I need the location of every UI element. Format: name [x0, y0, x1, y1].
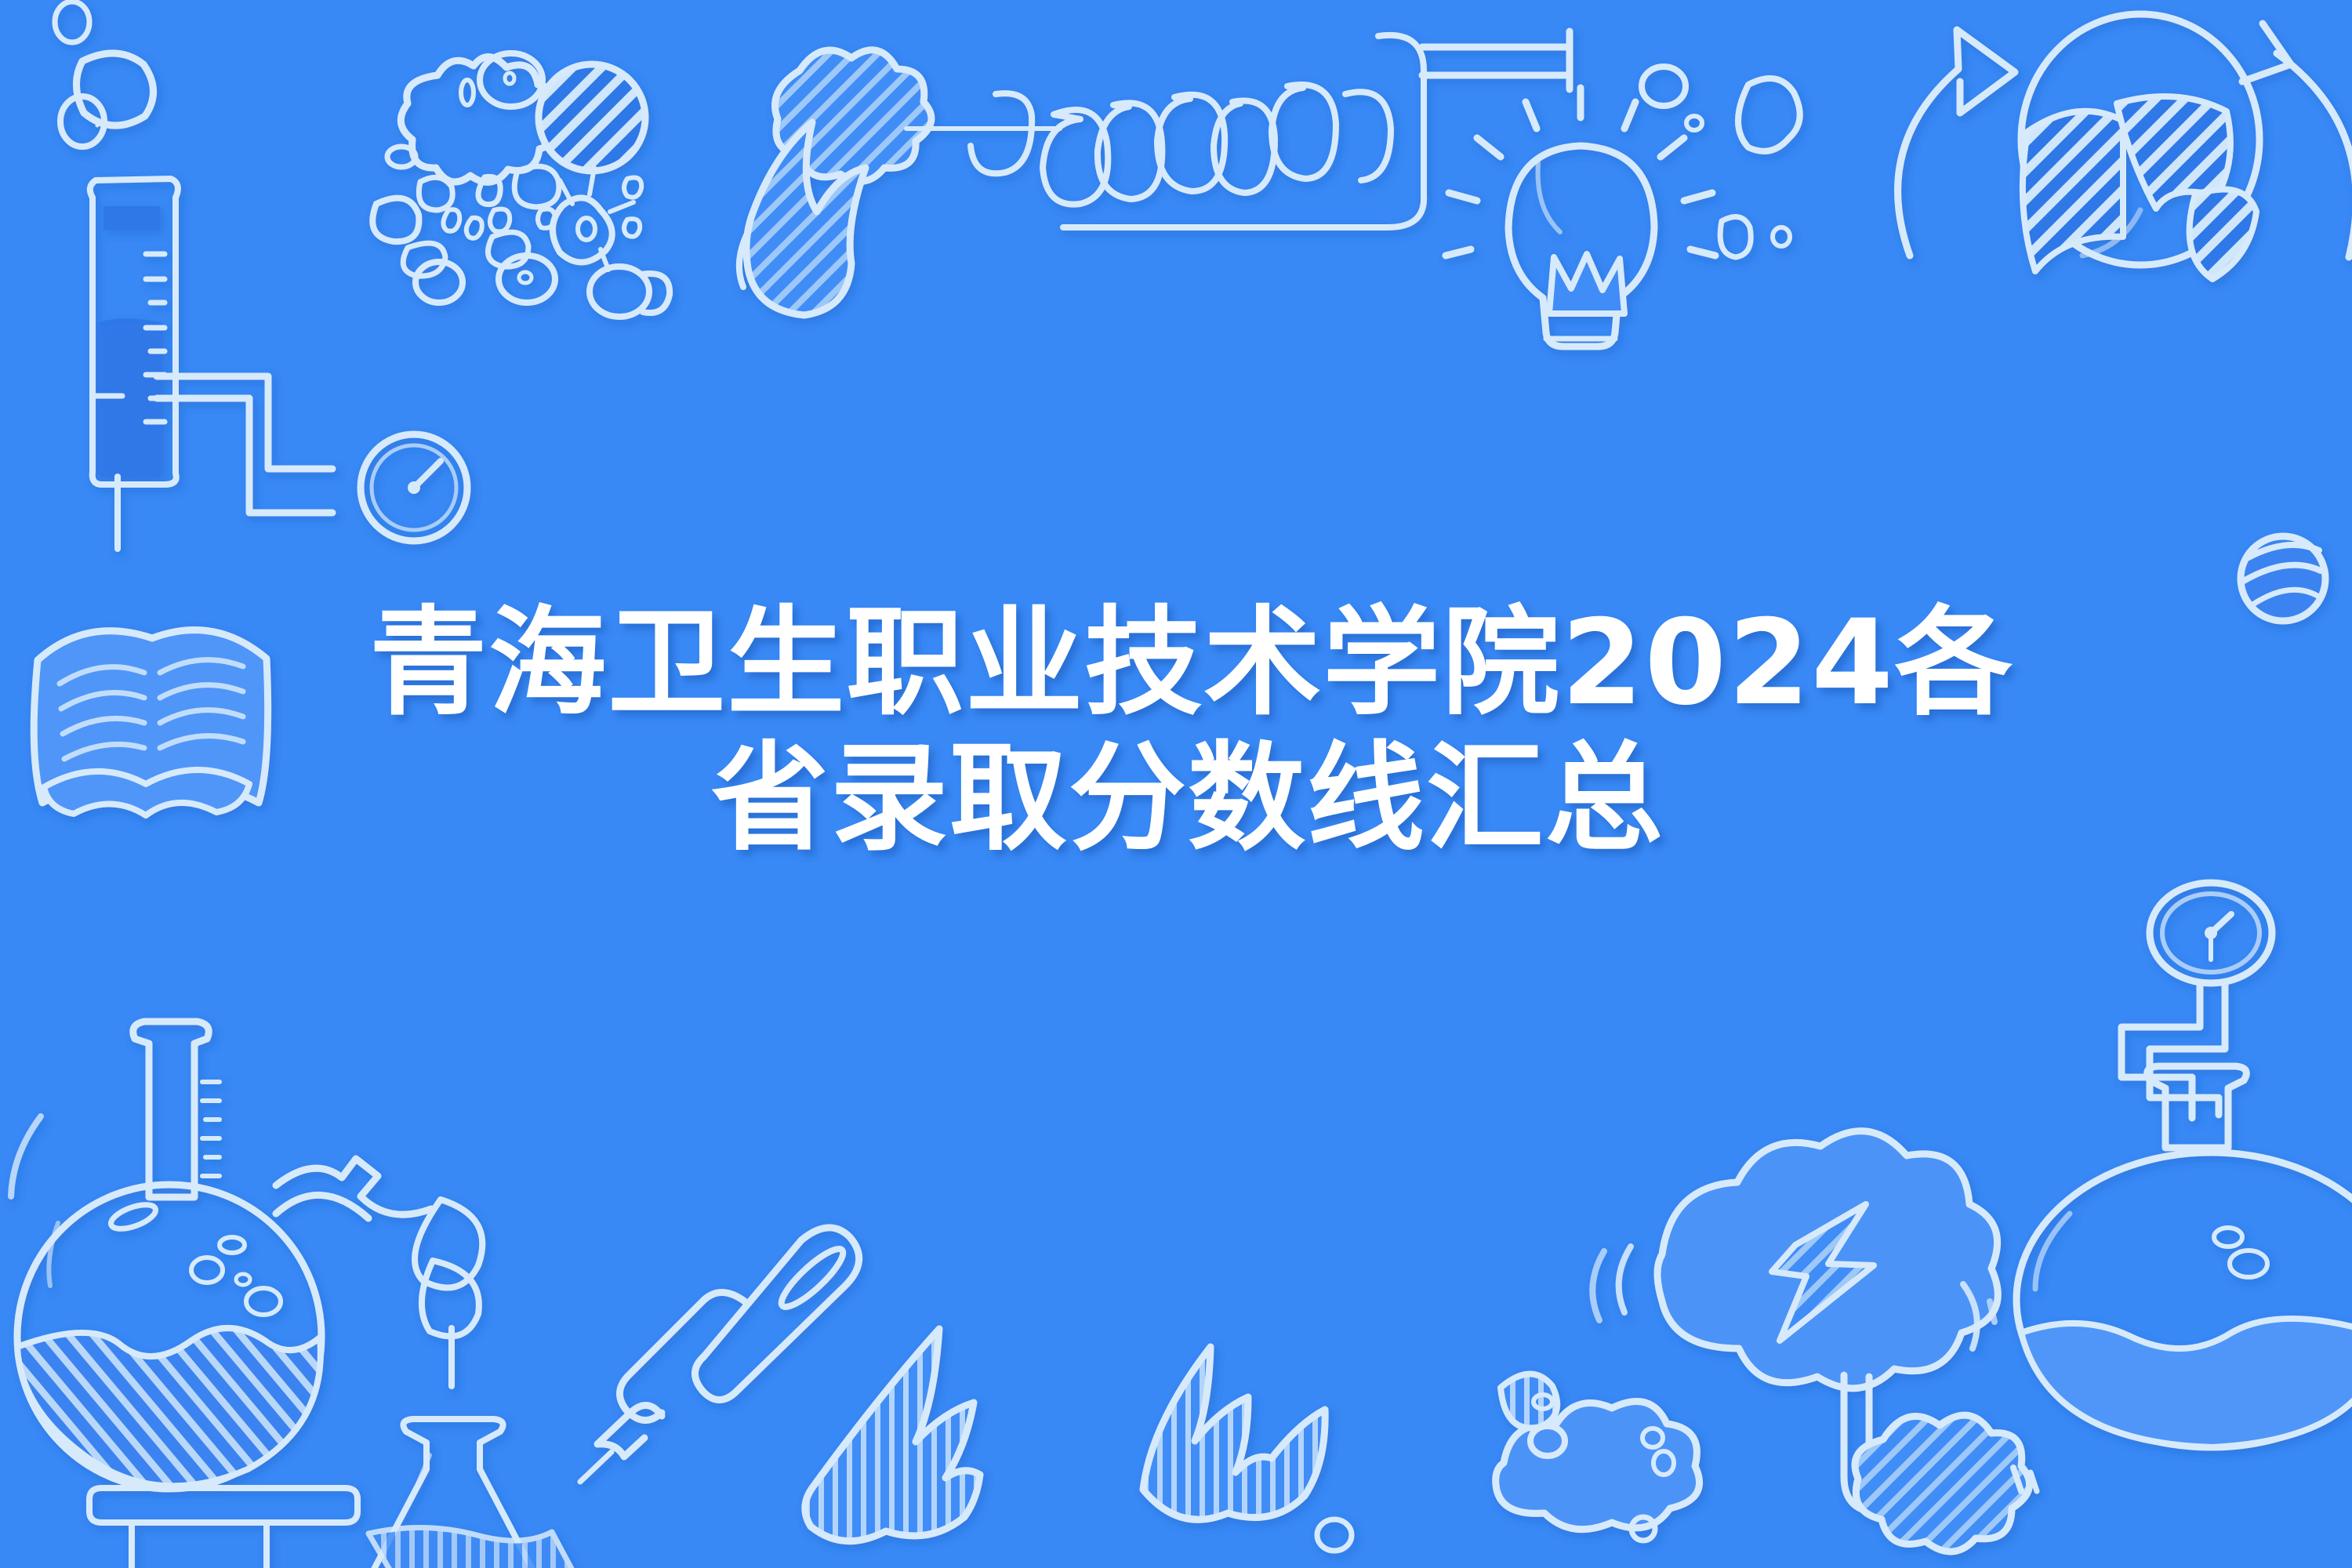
- poster-canvas: 青海卫生职业技术学院2024各 省录取分数线汇总: [0, 0, 2352, 1568]
- rock-specimen: [1501, 1374, 1557, 1428]
- open-book: [34, 630, 267, 815]
- planet-right: [2241, 536, 2325, 621]
- decorative-background: [0, 0, 2352, 1568]
